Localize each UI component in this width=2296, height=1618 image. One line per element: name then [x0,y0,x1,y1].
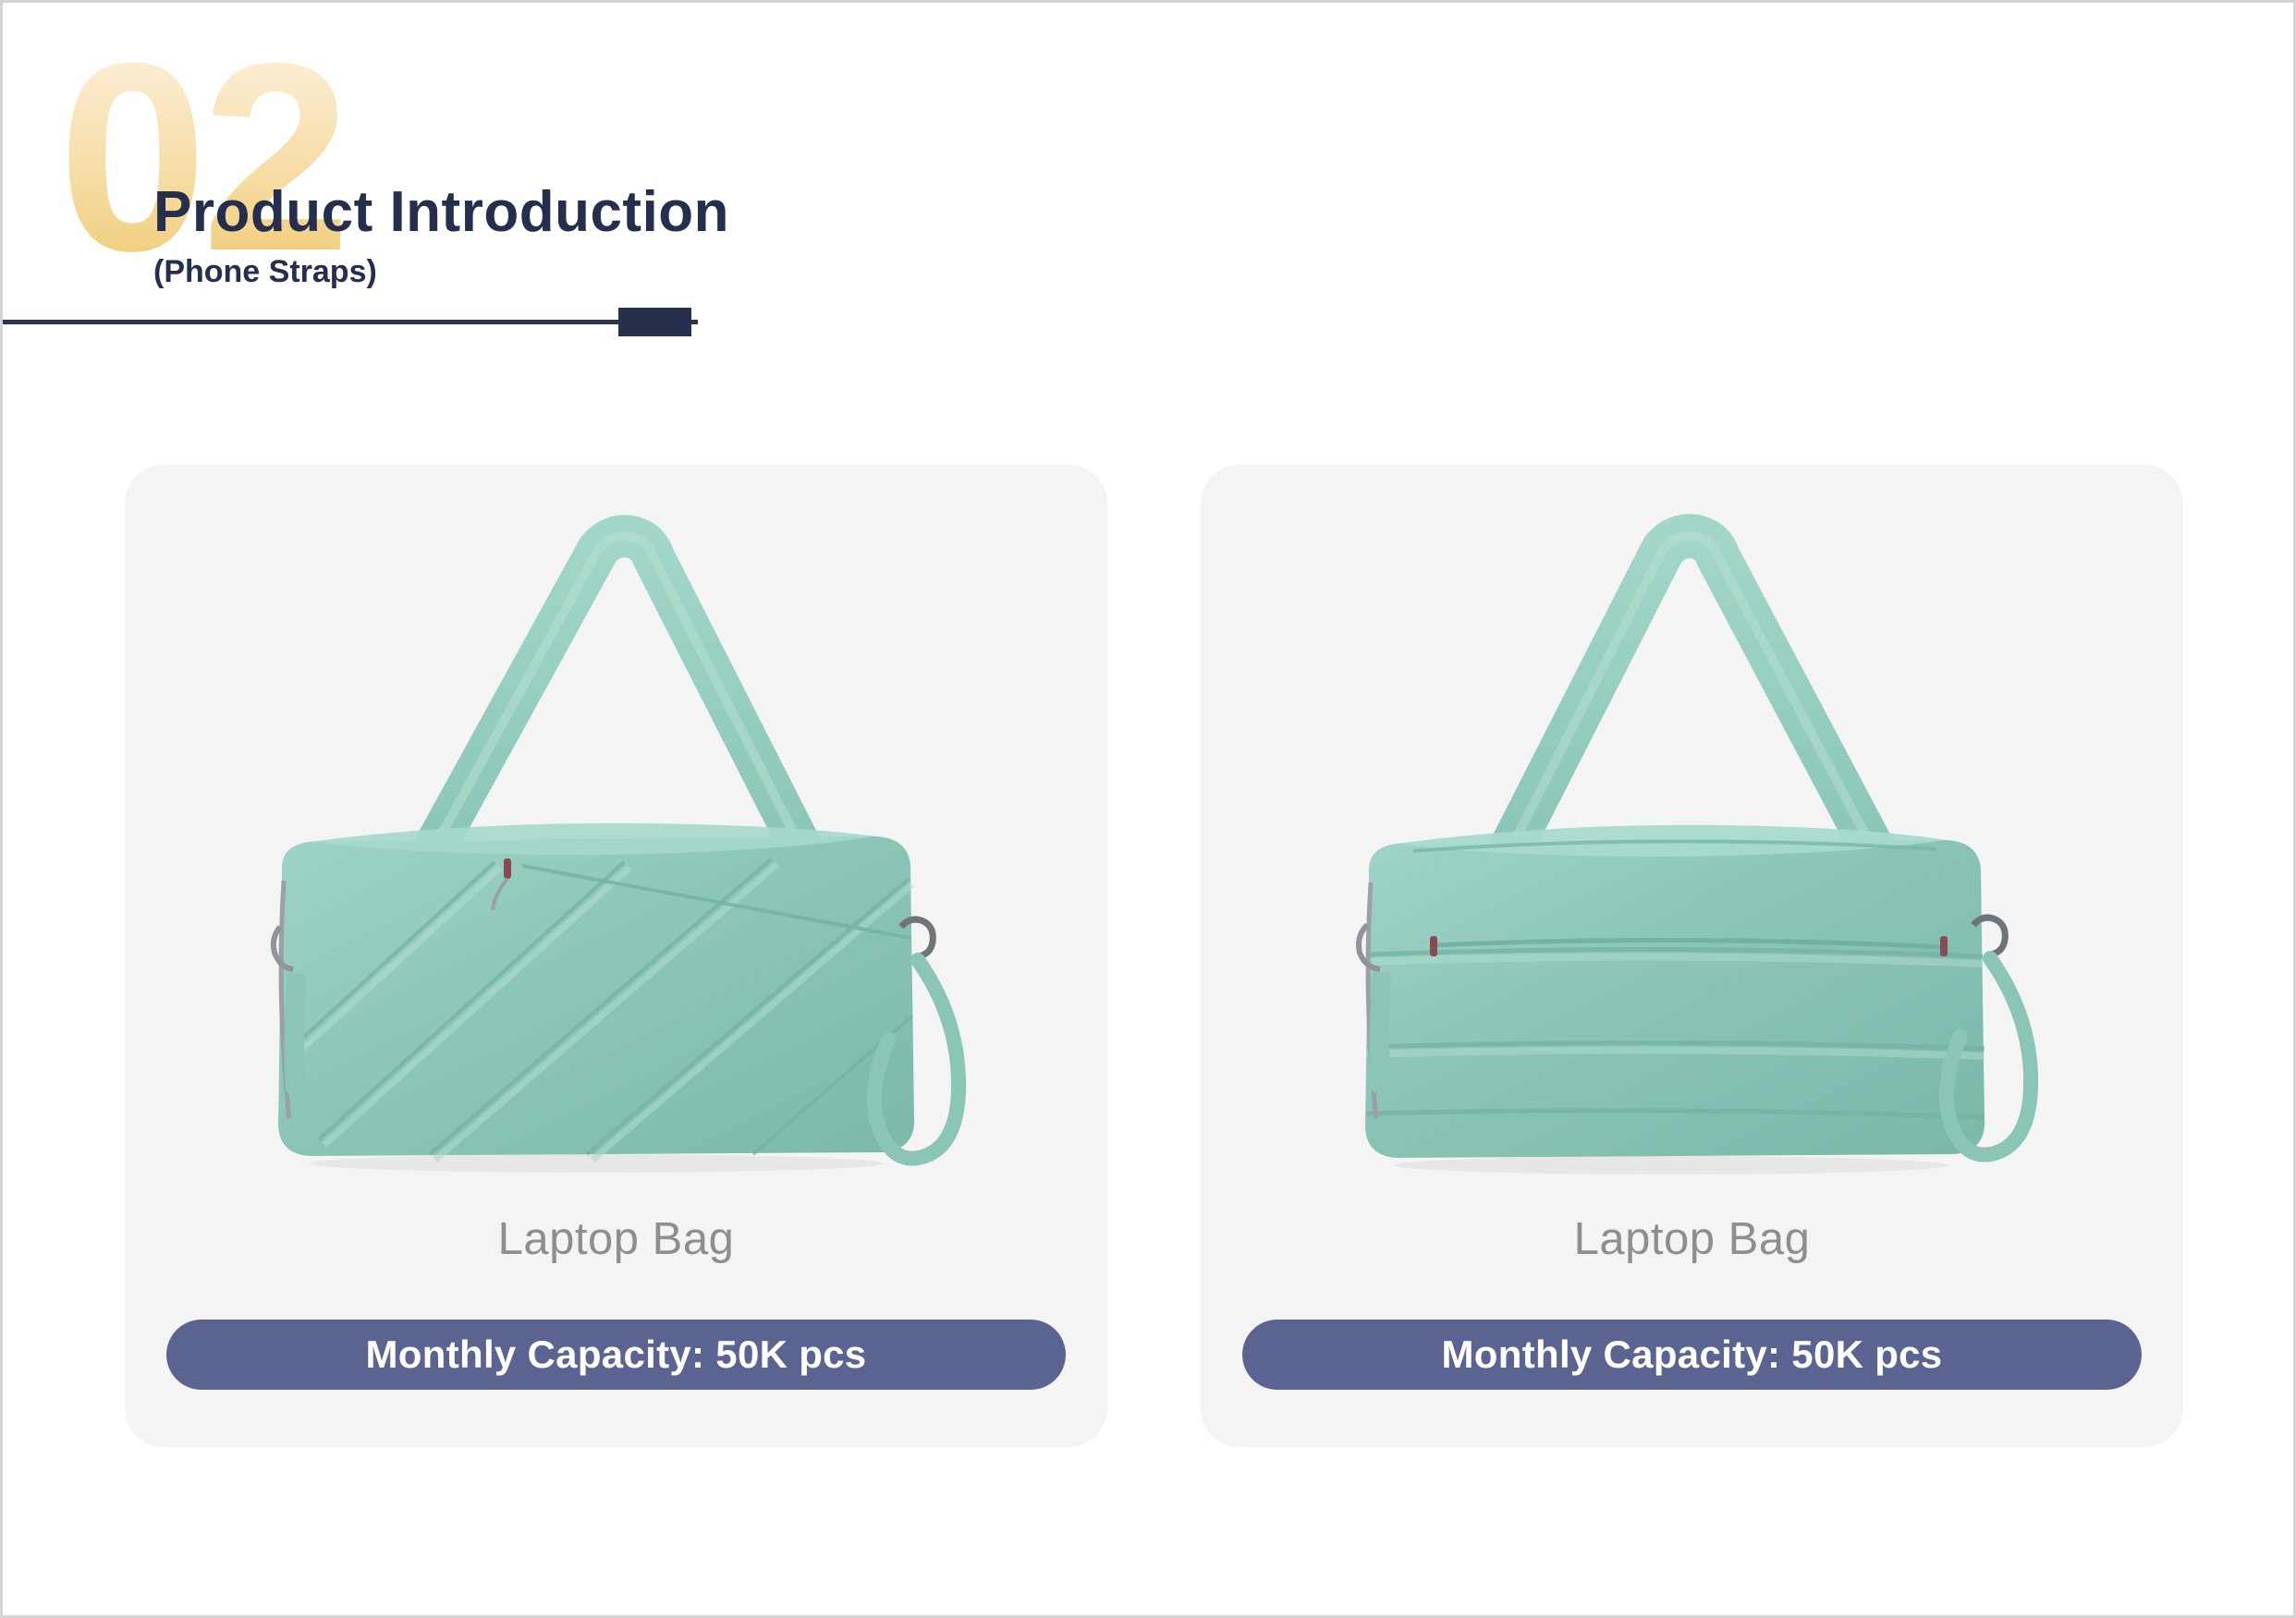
product-name: Laptop Bag [125,1213,1107,1265]
product-card[interactable]: Laptop Bag Monthly Capacity: 50K pcs [1201,465,2183,1447]
monthly-capacity-badge[interactable]: Monthly Capacity: 50K pcs [1242,1320,2142,1390]
product-card[interactable]: Laptop Bag Monthly Capacity: 50K pcs [125,465,1107,1447]
zipper-pull-icon [1940,936,1948,956]
monthly-capacity-badge[interactable]: Monthly Capacity: 50K pcs [166,1320,1066,1390]
product-card-grid: Laptop Bag Monthly Capacity: 50K pcs [3,3,2296,1618]
slide-canvas: 02 Product Introduction (Phone Straps) [0,0,2296,1618]
zipper-pull-icon [1430,936,1437,956]
product-image-diagonal-quilt [125,493,1107,1213]
product-name: Laptop Bag [1201,1213,2183,1265]
product-image-horizontal-quilt [1201,493,2183,1213]
